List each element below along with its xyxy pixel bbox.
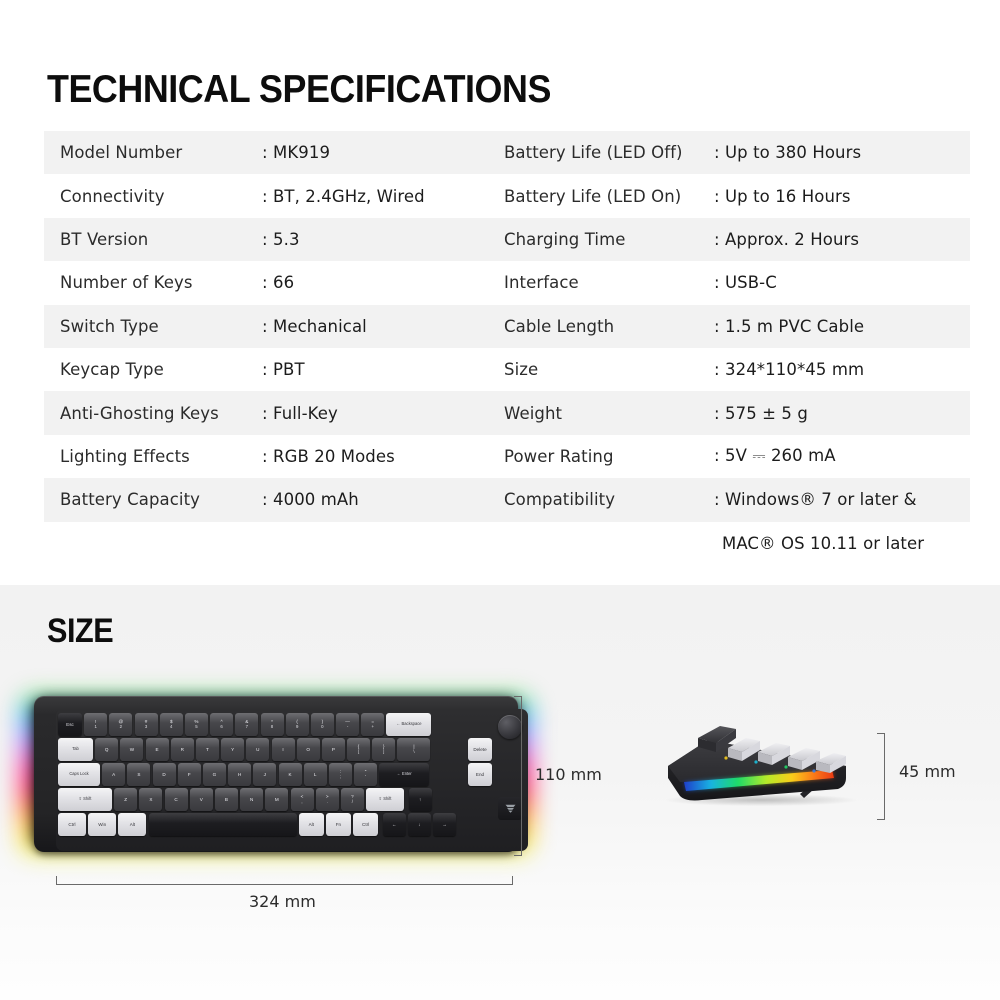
key-m[interactable]: M — [265, 788, 288, 811]
key-delete[interactable]: Delete — [468, 738, 492, 761]
page-title: TECHNICAL SPECIFICATIONS — [47, 68, 551, 112]
spec-cell-right: Battery Life (LED On) : Up to 16 Hours — [496, 174, 970, 217]
dimension-cap-left — [56, 876, 57, 885]
spec-label: Battery Life (LED Off) — [504, 143, 714, 162]
spec-value: : 1.5 m PVC Cable — [714, 317, 864, 336]
spec-label: Lighting Effects — [60, 447, 262, 466]
spec-label: Size — [504, 360, 714, 379]
spec-label: Number of Keys — [60, 273, 262, 292]
key-c[interactable]: C — [165, 788, 188, 811]
key-minus[interactable]: —- — [336, 713, 359, 736]
table-row: BT Version : 5.3 Charging Time : Approx.… — [44, 218, 970, 261]
key-4[interactable]: $4 — [160, 713, 183, 736]
table-row: Lighting Effects : RGB 20 Modes Power Ra… — [44, 435, 970, 478]
key-9[interactable]: (9 — [286, 713, 309, 736]
spec-label: Charging Time — [504, 230, 714, 249]
keyboard-side-view — [650, 716, 870, 826]
spec-label: Battery Life (LED On) — [504, 187, 714, 206]
spec-value: : 575 ± 5 g — [714, 404, 808, 423]
spec-cell-right: Compatibility : Windows® 7 or later & — [496, 478, 970, 521]
spec-label: Weight — [504, 404, 714, 423]
table-row: Keycap Type : PBT Size : 324*110*45 mm — [44, 348, 970, 391]
table-row: Switch Type : Mechanical Cable Length : … — [44, 305, 970, 348]
key-backspace[interactable]: ← Backspace — [386, 713, 431, 736]
key-q[interactable]: Q — [95, 738, 118, 761]
spec-label: Connectivity — [60, 187, 262, 206]
key-esc[interactable]: Esc — [58, 713, 82, 736]
key-fn[interactable]: Fn — [326, 813, 351, 836]
table-row: Connectivity : BT, 2.4GHz, Wired Battery… — [44, 174, 970, 217]
dimension-line-width — [56, 884, 513, 885]
key-s[interactable]: S — [127, 763, 150, 786]
spec-cell-left: Lighting Effects : RGB 20 Modes — [44, 435, 496, 478]
key-p[interactable]: P — [322, 738, 345, 761]
key-f[interactable]: F — [178, 763, 201, 786]
spec-value: : Up to 380 Hours — [714, 143, 861, 162]
table-row: Anti-Ghosting Keys : Full-Key Weight : 5… — [44, 391, 970, 434]
table-row-continuation: MAC® OS 10.11 or later — [44, 522, 970, 565]
spec-value: : RGB 20 Modes — [262, 447, 395, 466]
key-win[interactable]: Win — [88, 813, 116, 836]
key-5[interactable]: %5 — [185, 713, 208, 736]
keyboard-side-shadow — [666, 794, 856, 806]
key-arrow-left[interactable]: ← — [383, 813, 406, 836]
volume-knob[interactable] — [498, 715, 522, 739]
dimension-label-height: 45 mm — [899, 762, 956, 781]
key-w[interactable]: W — [120, 738, 143, 761]
key-8[interactable]: *8 — [261, 713, 284, 736]
dimension-cap-top — [514, 696, 522, 697]
keyboard-body: Esc !1 @2 #3 $4 %5 ^6 &7 *8 (9 )0 —- =+ … — [34, 696, 518, 852]
size-title: SIZE — [47, 612, 113, 651]
table-row: Number of Keys : 66 Interface : USB-C — [44, 261, 970, 304]
key-u[interactable]: U — [246, 738, 269, 761]
keycap-grid: Esc !1 @2 #3 $4 %5 ^6 &7 *8 (9 )0 —- =+ … — [58, 711, 528, 851]
key-g[interactable]: G — [203, 763, 226, 786]
key-tab[interactable]: Tab — [58, 738, 93, 761]
key-e[interactable]: E — [146, 738, 169, 761]
key-alt-right[interactable]: Alt — [299, 813, 324, 836]
key-equals[interactable]: =+ — [361, 713, 384, 736]
key-3[interactable]: #3 — [135, 713, 158, 736]
spec-cell-right: Weight : 575 ± 5 g — [496, 391, 970, 434]
spec-cell-left: Battery Capacity : 4000 mAh — [44, 478, 496, 521]
dimension-line-depth — [521, 696, 522, 856]
spec-cell-left: Connectivity : BT, 2.4GHz, Wired — [44, 174, 496, 217]
spec-value: : 5.3 — [262, 230, 300, 249]
keyboard-top-view: Esc !1 @2 #3 $4 %5 ^6 &7 *8 (9 )0 —- =+ … — [18, 688, 534, 860]
key-comma[interactable]: <, — [291, 788, 314, 811]
key-arrow-up[interactable]: ↑ — [409, 788, 432, 811]
spec-cell-right: Power Rating : 5V ⎓ 260 mA — [496, 435, 970, 478]
dimension-label-depth: 110 mm — [535, 765, 602, 784]
key-arrow-down[interactable]: ↓ — [408, 813, 431, 836]
key-bracket-left[interactable]: {[ — [347, 738, 370, 761]
key-z[interactable]: Z — [114, 788, 137, 811]
key-7[interactable]: &7 — [235, 713, 258, 736]
key-alt-left[interactable]: Alt — [118, 813, 146, 836]
key-end[interactable]: End — [468, 763, 492, 786]
spec-value: : BT, 2.4GHz, Wired — [262, 187, 425, 206]
spec-cell-right: Cable Length : 1.5 m PVC Cable — [496, 305, 970, 348]
key-h[interactable]: H — [228, 763, 251, 786]
spec-cell-right: Charging Time : Approx. 2 Hours — [496, 218, 970, 261]
key-ctrl-left[interactable]: Ctrl — [58, 813, 86, 836]
spec-label: Anti-Ghosting Keys — [60, 404, 262, 423]
table-row: Model Number : MK919 Battery Life (LED O… — [44, 131, 970, 174]
brand-logo-icon — [505, 804, 516, 813]
key-a[interactable]: A — [102, 763, 125, 786]
brand-logo-key[interactable] — [498, 797, 522, 820]
key-n[interactable]: N — [240, 788, 263, 811]
spec-value: : Windows® 7 or later & — [714, 490, 917, 509]
key-v[interactable]: V — [190, 788, 213, 811]
key-ctrl-right[interactable]: Ctrl — [353, 813, 378, 836]
key-2[interactable]: @2 — [109, 713, 132, 736]
spec-value: : Full-Key — [262, 404, 338, 423]
spec-value: : MK919 — [262, 143, 330, 162]
spec-value: : USB-C — [714, 273, 777, 292]
dimension-cap-height-top — [877, 733, 885, 734]
key-shift-right[interactable]: ⇧ Shift — [366, 788, 404, 811]
key-d[interactable]: D — [153, 763, 176, 786]
spec-label: Power Rating — [504, 447, 714, 466]
key-t[interactable]: T — [196, 738, 219, 761]
key-j[interactable]: J — [253, 763, 276, 786]
key-l[interactable]: L — [304, 763, 327, 786]
spec-label: Keycap Type — [60, 360, 262, 379]
spec-cell-left: Switch Type : Mechanical — [44, 305, 496, 348]
spec-label: BT Version — [60, 230, 262, 249]
key-quote[interactable]: "' — [354, 763, 377, 786]
key-bracket-right[interactable]: }] — [372, 738, 395, 761]
key-backslash[interactable]: |\ — [397, 738, 430, 761]
spec-label: Switch Type — [60, 317, 262, 336]
spec-cell-right: Interface : USB-C — [496, 261, 970, 304]
spec-cell-left: Anti-Ghosting Keys : Full-Key — [44, 391, 496, 434]
spec-cell-right: Battery Life (LED Off) : Up to 380 Hours — [496, 131, 970, 174]
spec-cell-left: Model Number : MK919 — [44, 131, 496, 174]
specifications-table: Model Number : MK919 Battery Life (LED O… — [44, 131, 970, 565]
spec-value: : Approx. 2 Hours — [714, 230, 859, 249]
dimension-line-height — [884, 733, 885, 820]
key-arrow-right[interactable]: → — [433, 813, 456, 836]
dimension-cap-bottom — [514, 855, 522, 856]
key-o[interactable]: O — [297, 738, 320, 761]
key-1[interactable]: !1 — [84, 713, 107, 736]
key-shift-left[interactable]: ⇧ Shift — [58, 788, 112, 811]
key-0[interactable]: )0 — [311, 713, 334, 736]
spec-value: : PBT — [262, 360, 305, 379]
dimension-cap-right — [512, 876, 513, 885]
key-enter[interactable]: ← Enter — [379, 763, 429, 786]
spec-label: Model Number — [60, 143, 262, 162]
key-b[interactable]: B — [215, 788, 238, 811]
spec-cell-left: Number of Keys : 66 — [44, 261, 496, 304]
key-slash[interactable]: ?/ — [341, 788, 364, 811]
spec-label: Cable Length — [504, 317, 714, 336]
spec-label: Battery Capacity — [60, 490, 262, 509]
key-k[interactable]: K — [279, 763, 302, 786]
key-6[interactable]: ^6 — [210, 713, 233, 736]
dimension-label-width: 324 mm — [249, 892, 316, 911]
spec-value: : 5V ⎓ 260 mA — [714, 446, 836, 466]
key-y[interactable]: Y — [221, 738, 244, 761]
spec-cell-right: Size : 324*110*45 mm — [496, 348, 970, 391]
spec-value: : Up to 16 Hours — [714, 187, 851, 206]
dimension-cap-height-bottom — [877, 819, 885, 820]
key-semicolon[interactable]: :; — [329, 763, 352, 786]
key-period[interactable]: >. — [316, 788, 339, 811]
technical-specifications-section: TECHNICAL SPECIFICATIONS Model Number : … — [0, 0, 1000, 585]
spec-value-continuation: MAC® OS 10.11 or later — [504, 534, 924, 553]
spec-value: : Mechanical — [262, 317, 367, 336]
table-row: Battery Capacity : 4000 mAh Compatibilit… — [44, 478, 970, 521]
key-space[interactable] — [149, 813, 297, 836]
key-r[interactable]: R — [171, 738, 194, 761]
spec-value: : 324*110*45 mm — [714, 360, 864, 379]
spec-label: Interface — [504, 273, 714, 292]
key-i[interactable]: I — [272, 738, 295, 761]
keyboard-side-illustration — [650, 716, 870, 826]
key-x[interactable]: X — [139, 788, 162, 811]
spec-cell-left: Keycap Type : PBT — [44, 348, 496, 391]
key-caps-lock[interactable]: Caps Lock — [58, 763, 100, 786]
spec-cell-left: BT Version : 5.3 — [44, 218, 496, 261]
spec-label: Compatibility — [504, 490, 714, 509]
spec-value: : 4000 mAh — [262, 490, 359, 509]
spec-value: : 66 — [262, 273, 294, 292]
spec-cell-right: MAC® OS 10.11 or later — [496, 534, 970, 553]
